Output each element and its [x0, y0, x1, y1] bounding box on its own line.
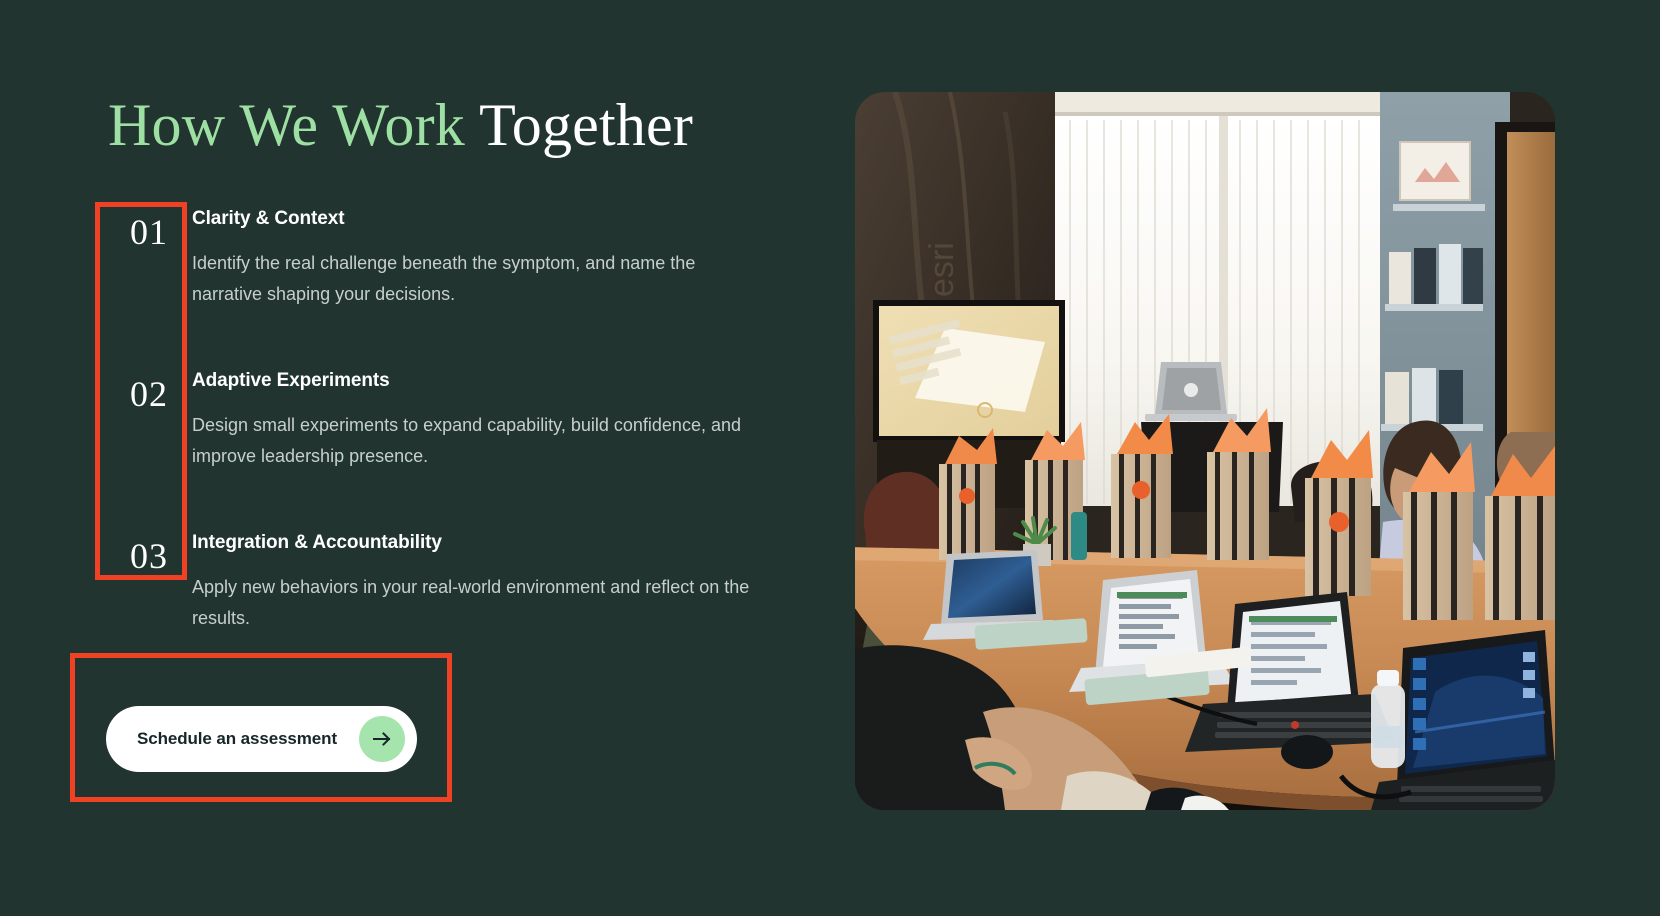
- step-title: Adaptive Experiments: [192, 370, 788, 393]
- cta-container: Schedule an assessment: [106, 706, 417, 772]
- step-03-marker: 03: [108, 532, 190, 574]
- step-description: Apply new behaviors in your real-world e…: [192, 572, 762, 634]
- step-title: Integration & Accountability: [192, 532, 788, 555]
- step-description: Design small experiments to expand capab…: [192, 410, 762, 472]
- step-01-marker: 01: [108, 208, 190, 264]
- left-column: How We Work Together: [108, 94, 788, 158]
- step-03-body: Integration & Accountability Apply new b…: [190, 532, 788, 634]
- step-number: 03: [130, 538, 168, 574]
- step-title: Clarity & Context: [192, 208, 788, 231]
- schedule-assessment-button[interactable]: Schedule an assessment: [106, 706, 417, 772]
- step-02-marker: 02: [108, 370, 190, 426]
- team-meeting-photo: esri: [855, 92, 1555, 810]
- step-02-body: Adaptive Experiments Design small experi…: [190, 370, 788, 472]
- step-01-body: Clarity & Context Identify the real chal…: [190, 208, 788, 310]
- step-item-03: 03 Integration & Accountability Apply ne…: [108, 532, 788, 652]
- page-title-accent: How We Work: [108, 92, 465, 158]
- schedule-assessment-label: Schedule an assessment: [137, 729, 337, 749]
- step-item-02: 02 Adaptive Experiments Design small exp…: [108, 370, 788, 532]
- arrow-right-icon: [359, 716, 405, 762]
- step-number: 02: [130, 376, 168, 412]
- step-description: Identify the real challenge beneath the …: [192, 248, 762, 310]
- page-title: How We Work Together: [108, 94, 788, 158]
- steps-list: 01 Clarity & Context Identify the real c…: [108, 208, 788, 652]
- page-title-plain: Together: [479, 92, 693, 158]
- page-title-space: [465, 92, 479, 158]
- step-item-01: 01 Clarity & Context Identify the real c…: [108, 208, 788, 370]
- how-we-work-together-section: How We Work Together 01 Clarity & Contex…: [0, 0, 1660, 916]
- svg-text:esri: esri: [923, 242, 961, 297]
- step-number: 01: [130, 214, 168, 250]
